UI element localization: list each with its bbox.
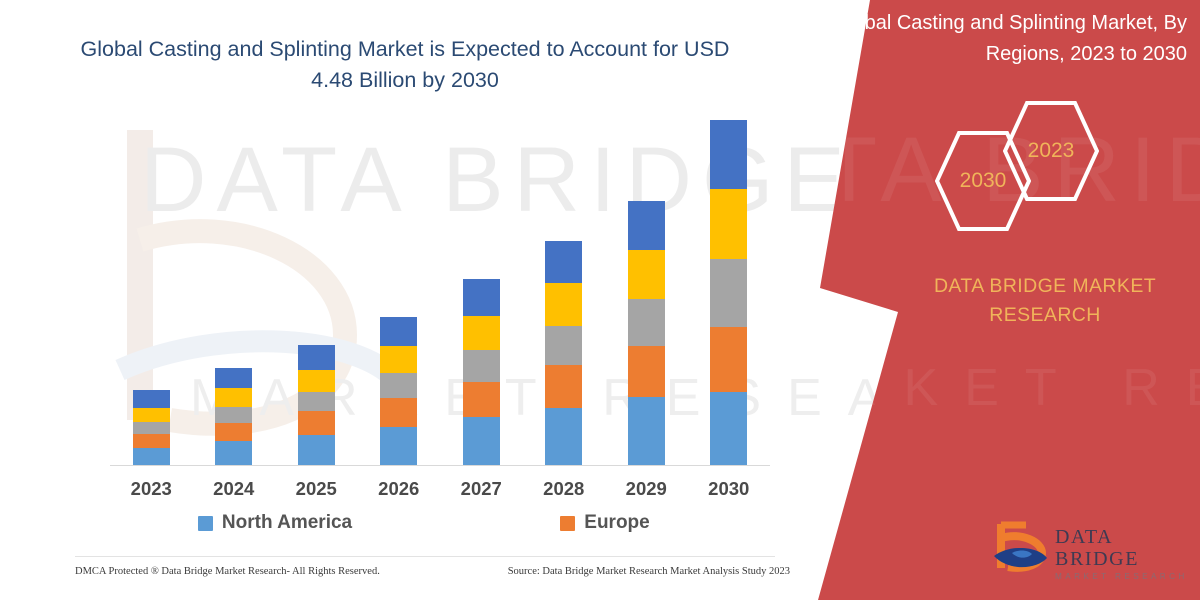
logo-wordmark: DATA BRIDGE MARKET RESEARCH — [1055, 526, 1190, 583]
hexagon-label-2023: 2023 — [1003, 139, 1099, 163]
bar-segment[interactable] — [463, 350, 500, 382]
bar-segment[interactable] — [133, 422, 170, 434]
bar-segment[interactable] — [628, 346, 665, 397]
x-axis-tick-label: 2024 — [193, 478, 276, 500]
stacked-bar[interactable] — [380, 317, 417, 465]
bar-segment[interactable] — [710, 120, 747, 189]
bar-slot — [688, 120, 771, 465]
bar-segment[interactable] — [463, 316, 500, 350]
chart-plot-area — [110, 120, 770, 466]
bar-segment[interactable] — [628, 299, 665, 347]
bar-segment[interactable] — [545, 283, 582, 326]
bar-segment[interactable] — [215, 441, 252, 465]
bar-segment[interactable] — [380, 373, 417, 398]
stacked-bar[interactable] — [215, 368, 252, 465]
legend-swatch-icon — [560, 516, 575, 531]
logo-b-icon — [992, 520, 1050, 576]
x-axis-line — [110, 465, 770, 466]
stacked-bar[interactable] — [710, 120, 747, 465]
dbmr-logo: DATA BRIDGE MARKET RESEARCH — [992, 518, 1192, 580]
bar-segment[interactable] — [133, 408, 170, 422]
bar-segment[interactable] — [628, 397, 665, 465]
x-axis-tick-label: 2027 — [440, 478, 523, 500]
bar-segment[interactable] — [545, 365, 582, 408]
x-axis-tick-label: 2028 — [523, 478, 606, 500]
stacked-bar[interactable] — [628, 201, 665, 465]
bar-slot — [275, 120, 358, 465]
legend-label: North America — [222, 512, 352, 534]
bar-segment[interactable] — [298, 392, 335, 411]
bar-segment[interactable] — [710, 259, 747, 327]
bar-segment[interactable] — [380, 427, 417, 465]
bar-segment[interactable] — [215, 423, 252, 441]
bar-segment[interactable] — [545, 326, 582, 365]
footer-dmca-text: DMCA Protected ® Data Bridge Market Rese… — [75, 566, 380, 577]
x-axis-tick-label: 2025 — [275, 478, 358, 500]
bar-segment[interactable] — [215, 407, 252, 423]
stacked-bar[interactable] — [298, 345, 335, 465]
panel-title: Global Casting and Splinting Market, By … — [832, 8, 1187, 70]
chart-title: Global Casting and Splinting Market is E… — [80, 34, 730, 96]
bar-segment[interactable] — [710, 392, 747, 465]
bar-segment[interactable] — [380, 346, 417, 373]
stacked-bar[interactable] — [545, 241, 582, 465]
panel-brand-line2: RESEARCH — [905, 301, 1185, 330]
panel-brand-text: DATA BRIDGE MARKET RESEARCH — [905, 272, 1185, 330]
bar-segment[interactable] — [215, 368, 252, 388]
stacked-bar[interactable] — [133, 390, 170, 465]
stacked-bar[interactable] — [463, 279, 500, 465]
bar-segment[interactable] — [133, 434, 170, 448]
chart-legend: North AmericaEurope — [110, 512, 770, 534]
legend-swatch-icon — [198, 516, 213, 531]
hexagon-badges: 2030 2023 — [925, 103, 1125, 233]
x-axis-tick-label: 2030 — [688, 478, 771, 500]
bar-segment[interactable] — [133, 390, 170, 408]
bar-segment[interactable] — [463, 382, 500, 417]
bar-segment[interactable] — [545, 408, 582, 465]
bar-group — [110, 120, 770, 465]
bar-segment[interactable] — [298, 411, 335, 435]
x-axis-tick-label: 2026 — [358, 478, 441, 500]
bar-slot — [605, 120, 688, 465]
bar-segment[interactable] — [628, 250, 665, 299]
x-axis-labels: 20232024202520262027202820292030 — [110, 478, 770, 500]
bar-segment[interactable] — [298, 370, 335, 392]
bar-segment[interactable] — [215, 388, 252, 406]
bar-slot — [193, 120, 276, 465]
bar-segment[interactable] — [380, 398, 417, 427]
bar-segment[interactable] — [298, 435, 335, 465]
x-axis-tick-label: 2029 — [605, 478, 688, 500]
legend-item[interactable]: North America — [110, 512, 440, 534]
infographic-page: DATA BRIDGE MARKET RESEARCH Global Casti… — [0, 0, 1200, 600]
legend-label: Europe — [584, 512, 649, 534]
bar-segment[interactable] — [710, 189, 747, 260]
bar-segment[interactable] — [545, 241, 582, 283]
bar-segment[interactable] — [463, 417, 500, 465]
panel-watermark-line2: MARKET RESEARCH — [760, 358, 1200, 418]
panel-brand-line1: DATA BRIDGE MARKET — [905, 272, 1185, 301]
bar-segment[interactable] — [380, 317, 417, 346]
logo-main-text: DATA BRIDGE — [1055, 526, 1190, 570]
logo-sub-text: MARKET RESEARCH — [1055, 570, 1190, 583]
hexagon-badge-2023: 2023 — [1003, 99, 1099, 203]
bar-segment[interactable] — [628, 201, 665, 250]
footer: DMCA Protected ® Data Bridge Market Rese… — [75, 566, 790, 577]
bar-segment[interactable] — [463, 279, 500, 316]
bar-slot — [358, 120, 441, 465]
footer-divider — [75, 556, 775, 557]
footer-source-text: Source: Data Bridge Market Research Mark… — [508, 566, 790, 577]
legend-item[interactable]: Europe — [440, 512, 770, 534]
bar-segment[interactable] — [133, 448, 170, 465]
x-axis-tick-label: 2023 — [110, 478, 193, 500]
bar-segment[interactable] — [710, 327, 747, 392]
bar-slot — [440, 120, 523, 465]
bar-slot — [110, 120, 193, 465]
bar-segment[interactable] — [298, 345, 335, 370]
bar-slot — [523, 120, 606, 465]
